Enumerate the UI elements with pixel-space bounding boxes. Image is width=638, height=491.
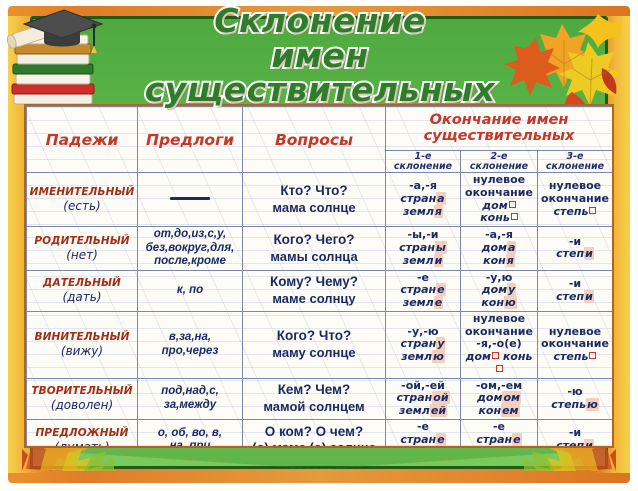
- subheader-declension-3: 3-е склонение: [538, 151, 613, 173]
- declension-3-word: склонение: [540, 162, 610, 172]
- ending-value: -е: [463, 421, 535, 434]
- example-word: степи: [540, 248, 610, 261]
- declension-1-cell: -естранеземле: [386, 270, 461, 311]
- questions-cell: Кто? Что?мама солнце: [243, 173, 386, 227]
- example-word: конь: [463, 212, 535, 225]
- example-word: страна: [388, 193, 458, 206]
- declension-1-cell: -естранеземле: [386, 419, 461, 448]
- declension-3-cell: -истепи: [538, 419, 613, 448]
- poster-title: Склонение имен существительных: [120, 10, 520, 102]
- case-hint: (нет): [29, 248, 135, 262]
- zero-ending-box: [496, 365, 503, 372]
- table-row[interactable]: ВИНИТЕЛЬНЫЙ(вижу)в,за,на,про,черезКого? …: [27, 311, 613, 378]
- preposition-line: в,за,на,: [169, 331, 211, 343]
- example-word: конем: [463, 405, 535, 418]
- ending-value: -е: [388, 421, 458, 434]
- question-text: Кем? Чем?: [245, 382, 383, 399]
- question-text: Кто? Что?: [245, 183, 383, 200]
- question-example: маме солнцу: [245, 291, 383, 307]
- case-hint: (есть): [29, 199, 135, 213]
- title-line-2: имен существительных: [120, 39, 520, 109]
- case-name: ВИНИТЕЛЬНЫЙ: [29, 331, 135, 343]
- example-word: степь: [540, 351, 610, 364]
- declension-2-cell: -естранеземле: [461, 419, 538, 448]
- example-word: коня: [463, 255, 535, 268]
- declension-3-cell: -юстепью: [538, 378, 613, 419]
- preposition-line: за,между: [164, 399, 216, 411]
- declension-3-cell: нулевоеокончаниестепь: [538, 173, 613, 227]
- case-cell: ТВОРИТЕЛЬНЫЙ(доволен): [27, 378, 138, 419]
- declension-table-container: Падежи Предлоги Вопросы Окончание имен с…: [24, 104, 614, 448]
- zero-ending-box: [509, 201, 516, 208]
- zero-ending-box: [511, 213, 518, 220]
- case-name: ПРЕДЛОЖНЫЙ: [29, 427, 135, 439]
- question-text: Кого? Что?: [245, 328, 383, 345]
- example-word: степью: [540, 399, 610, 412]
- declension-2-cell: -ом,-емдомомконем: [461, 378, 538, 419]
- example-word: землю: [388, 351, 458, 364]
- case-hint: (дать): [29, 290, 135, 304]
- case-cell: ПРЕДЛОЖНЫЙ(думать): [27, 419, 138, 448]
- declension-1-cell: -у,-юстрануземлю: [386, 311, 461, 378]
- case-hint: (доволен): [29, 398, 135, 412]
- declension-2-word: склонение: [463, 162, 535, 172]
- declension-1-word: склонение: [388, 162, 458, 172]
- question-text: Кого? Чего?: [245, 232, 383, 249]
- header-cases: Падежи: [27, 107, 138, 173]
- questions-cell: О ком? О чем?(о) маме (о) солнце: [243, 419, 386, 448]
- prepositions-cell: к, по: [138, 270, 243, 311]
- prepositions-cell: [138, 173, 243, 227]
- header-endings-line1: Окончание имен: [430, 112, 569, 128]
- declension-1-cell: -ы,-истраныземли: [386, 227, 461, 271]
- prepositions-cell: о, об, во, в,на, при: [138, 419, 243, 448]
- example-word: коню: [463, 297, 535, 310]
- header-questions: Вопросы: [243, 107, 386, 173]
- preposition-line: на, при: [170, 440, 211, 448]
- example-word: степи: [540, 291, 610, 304]
- example-word: земле: [388, 297, 458, 310]
- question-example: маму солнце: [245, 345, 383, 361]
- zero-ending-box: [589, 352, 596, 359]
- case-hint: (думать): [29, 440, 135, 448]
- declension-3-cell: -истепи: [538, 227, 613, 271]
- example-word: степи: [540, 440, 610, 448]
- poster-root: Склонение имен существительных Падежи Пр…: [0, 0, 638, 491]
- prepositions-cell: под,над,с,за,между: [138, 378, 243, 419]
- case-cell: ИМЕНИТЕЛЬНЫЙ(есть): [27, 173, 138, 227]
- stack-of-books-with-graduation-cap-icon: [2, 2, 106, 114]
- preposition-line: после,кроме: [154, 255, 226, 267]
- table-header-row: Падежи Предлоги Вопросы Окончание имен с…: [27, 107, 613, 151]
- example-word: земле: [388, 446, 458, 448]
- preposition-line: о, об, во, в,: [158, 427, 222, 439]
- zero-ending-box: [492, 352, 499, 359]
- case-hint: (вижу): [29, 344, 135, 358]
- preposition-line: под,над,с,: [161, 385, 219, 397]
- table-row[interactable]: ПРЕДЛОЖНЫЙ(думать)о, об, во, в,на, приО …: [27, 419, 613, 448]
- table-body: ИМЕНИТЕЛЬНЫЙ(есть)Кто? Что?мама солнце-а…: [27, 173, 613, 449]
- table-row[interactable]: ДАТЕЛЬНЫЙ(дать)к, поКому? Чему?маме солн…: [27, 270, 613, 311]
- questions-cell: Кого? Чего?мамы солнца: [243, 227, 386, 271]
- ending-value: нулевое: [463, 313, 535, 326]
- example-word: степь: [540, 206, 610, 219]
- declension-2-cell: нулевоеокончание-я,-о(е)дом конь: [461, 311, 538, 378]
- table-row[interactable]: ИМЕНИТЕЛЬНЫЙ(есть)Кто? Что?мама солнце-а…: [27, 173, 613, 227]
- subheader-declension-2: 2-е склонение: [461, 151, 538, 173]
- question-text: Кому? Чему?: [245, 274, 383, 291]
- case-cell: РОДИТЕЛЬНЫЙ(нет): [27, 227, 138, 271]
- preposition-line: к, по: [177, 284, 203, 296]
- example-word: земля: [388, 206, 458, 219]
- case-cell: ДАТЕЛЬНЫЙ(дать): [27, 270, 138, 311]
- header-endings: Окончание имен существительных: [386, 107, 613, 151]
- ending-value: -ю: [540, 386, 610, 399]
- case-name: ДАТЕЛЬНЫЙ: [29, 277, 135, 289]
- example-word: дома: [463, 242, 535, 255]
- example-word: дом конь: [463, 351, 535, 377]
- questions-cell: Кем? Чем?мамой солнцем: [243, 378, 386, 419]
- ending-value-2: окончание: [540, 193, 610, 206]
- ending-value: нулевое: [463, 174, 535, 187]
- prepositions-cell: от,до,из,с,у,без,вокруг,для,после,кроме: [138, 227, 243, 271]
- example-word: страны: [388, 242, 458, 255]
- header-prepositions: Предлоги: [138, 107, 243, 173]
- prepositions-cell: в,за,на,про,через: [138, 311, 243, 378]
- declension-2-cell: нулевоеокончаниедомконь: [461, 173, 538, 227]
- declension-1-cell: -ой,-ейстранойземлей: [386, 378, 461, 419]
- header-endings-line2: существительных: [424, 128, 575, 144]
- title-line-1: Склонение: [214, 4, 425, 39]
- example-word: земли: [388, 255, 458, 268]
- table-row[interactable]: ТВОРИТЕЛЬНЫЙ(доволен)под,над,с,за,междуК…: [27, 378, 613, 419]
- case-name: ИМЕНИТЕЛЬНЫЙ: [29, 186, 135, 198]
- preposition-line: про,через: [162, 345, 219, 357]
- ending-value: -и: [540, 278, 610, 291]
- subheader-declension-1: 1-е склонение: [386, 151, 461, 173]
- em-dash-icon: [170, 197, 210, 200]
- question-example: мамой солнцем: [245, 399, 383, 415]
- declension-3-cell: -истепи: [538, 270, 613, 311]
- ending-value-2: окончание: [463, 187, 535, 200]
- question-text: О ком? О чем?: [245, 424, 383, 441]
- preposition-line: от,до,из,с,у,: [154, 228, 226, 240]
- example-word: земле: [463, 446, 535, 448]
- case-name: РОДИТЕЛЬНЫЙ: [29, 235, 135, 247]
- case-cell: ВИНИТЕЛЬНЫЙ(вижу): [27, 311, 138, 378]
- table-row[interactable]: РОДИТЕЛЬНЫЙ(нет)от,до,из,с,у,без,вокруг,…: [27, 227, 613, 271]
- declension-1-cell: -а,-ястраназемля: [386, 173, 461, 227]
- questions-cell: Кому? Чему?маме солнцу: [243, 270, 386, 311]
- declension-2-cell: -у,юдомуконю: [461, 270, 538, 311]
- declension-2-cell: -а,-ядомаконя: [461, 227, 538, 271]
- autumn-leaves-icon: [502, 8, 622, 114]
- declension-table: Падежи Предлоги Вопросы Окончание имен с…: [26, 106, 613, 448]
- declension-3-cell: нулевоеокончаниестепь: [538, 311, 613, 378]
- zero-ending-box: [589, 207, 596, 214]
- example-word: землей: [388, 405, 458, 418]
- preposition-line: без,вокруг,для,: [146, 242, 235, 254]
- questions-cell: Кого? Что?маму солнце: [243, 311, 386, 378]
- question-example: (о) маме (о) солнце: [245, 440, 383, 448]
- case-name: ТВОРИТЕЛЬНЫЙ: [29, 385, 135, 397]
- question-example: мамы солнца: [245, 249, 383, 265]
- question-example: мама солнце: [245, 200, 383, 216]
